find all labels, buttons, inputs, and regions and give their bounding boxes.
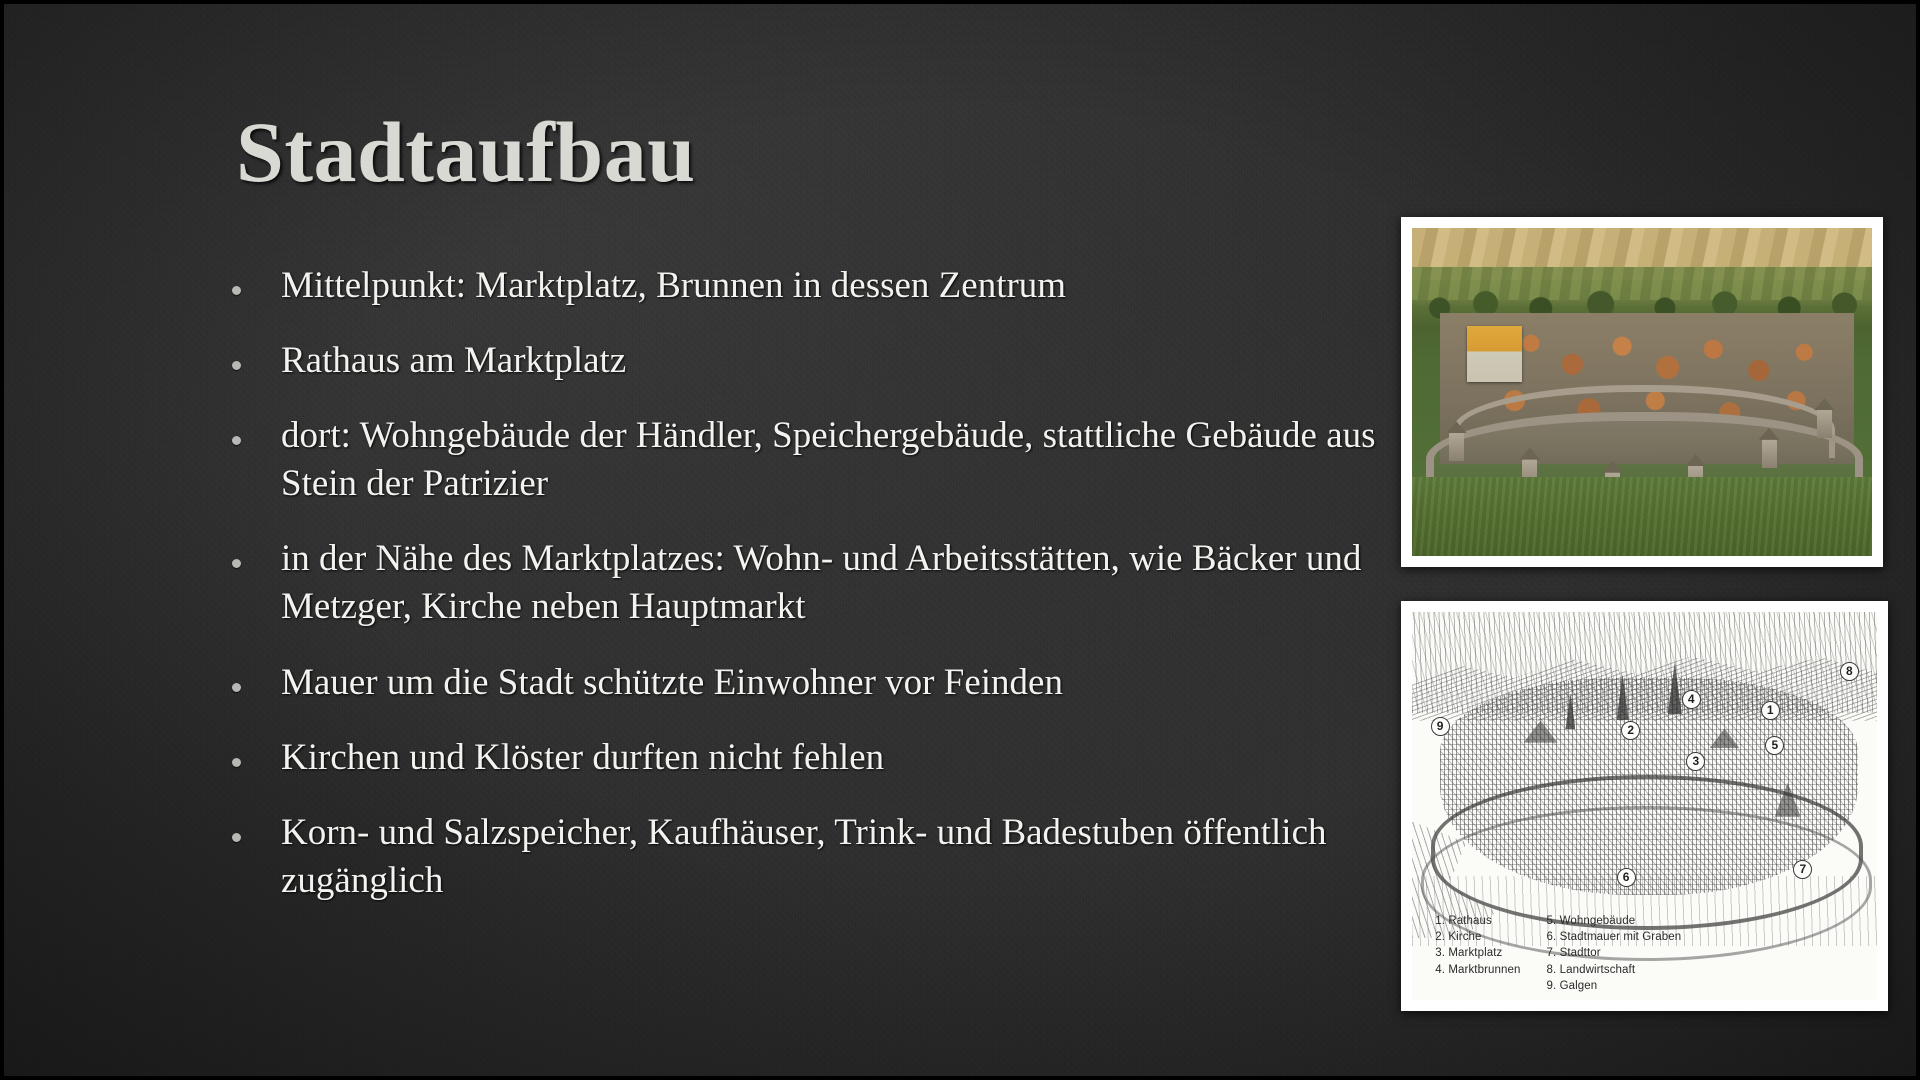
page-title: Stadtaufbau	[236, 109, 696, 195]
bullet-list: Mittelpunkt: Marktplatz, Brunnen in dess…	[232, 262, 1392, 932]
bullet-text: in der Nähe des Marktplatzes: Wohn- und …	[281, 535, 1392, 631]
list-item: Rathaus am Marktplatz	[232, 337, 1392, 385]
legend-item: 5. Wohngebäude	[1547, 913, 1682, 929]
map-marker-3: 3	[1686, 752, 1705, 771]
map-marker-9: 9	[1431, 717, 1450, 736]
legend-column-left: 1. Rathaus 2. Kirche 3. Marktplatz 4. Ma…	[1435, 913, 1520, 995]
bullet-dot-icon	[232, 559, 241, 568]
wall-tower	[1449, 431, 1464, 461]
map-marker-2: 2	[1621, 721, 1640, 740]
legend-item: 9. Galgen	[1547, 978, 1682, 994]
bullet-text: Mittelpunkt: Marktplatz, Brunnen in dess…	[281, 262, 1392, 310]
bullet-dot-icon	[232, 436, 241, 445]
bullet-text: Mauer um die Stadt schützte Einwohner vo…	[281, 659, 1392, 707]
list-item: Mittelpunkt: Marktplatz, Brunnen in dess…	[232, 262, 1392, 310]
bullet-dot-icon	[232, 361, 241, 370]
bullet-text: dort: Wohngebäude der Händler, Speicherg…	[281, 412, 1392, 508]
woodcut-legend: 1. Rathaus 2. Kirche 3. Marktplatz 4. Ma…	[1435, 913, 1863, 995]
legend-item: 4. Marktbrunnen	[1435, 962, 1520, 978]
legend-column-right: 5. Wohngebäude 6. Stadtmauer mit Graben …	[1547, 913, 1682, 995]
aerial-photo-fortified-town	[1401, 217, 1883, 567]
aerial-photo-inner	[1412, 228, 1872, 556]
map-marker-1: 1	[1761, 701, 1780, 720]
legend-item: 6. Stadtmauer mit Graben	[1547, 929, 1682, 945]
presentation-slide: Stadtaufbau Mittelpunkt: Marktplatz, Bru…	[0, 0, 1920, 1080]
list-item: Kirchen und Klöster durften nicht fehlen	[232, 734, 1392, 782]
map-marker-4: 4	[1682, 690, 1701, 709]
list-item: in der Nähe des Marktplatzes: Wohn- und …	[232, 535, 1392, 631]
legend-item: 3. Marktplatz	[1435, 945, 1520, 961]
bullet-text: Rathaus am Marktplatz	[281, 337, 1392, 385]
aerial-photo-graphic	[1412, 228, 1872, 556]
bullet-dot-icon	[232, 683, 241, 692]
legend-item: 8. Landwirtschaft	[1547, 962, 1682, 978]
list-item: dort: Wohngebäude der Händler, Speicherg…	[232, 412, 1392, 508]
legend-item: 2. Kirche	[1435, 929, 1520, 945]
bullet-text: Korn- und Salzspeicher, Kaufhäuser, Trin…	[281, 809, 1392, 905]
woodcut-graphic: 1 2 3 4 5 6 7 8 9 1. Rathaus 2. Kirche 3…	[1412, 612, 1877, 1000]
bullet-text: Kirchen und Klöster durften nicht fehlen	[281, 734, 1392, 782]
bullet-dot-icon	[232, 833, 241, 842]
wall-tower	[1817, 408, 1832, 438]
list-item: Mauer um die Stadt schützte Einwohner vo…	[232, 659, 1392, 707]
map-marker-6: 6	[1617, 868, 1636, 887]
bullet-dot-icon	[232, 758, 241, 767]
cathedral-building	[1467, 326, 1522, 382]
bullet-dot-icon	[232, 286, 241, 295]
list-item: Korn- und Salzspeicher, Kaufhäuser, Trin…	[232, 809, 1392, 905]
legend-item: 1. Rathaus	[1435, 913, 1520, 929]
wall-tower	[1762, 438, 1777, 468]
legend-item: 7. Stadttor	[1547, 945, 1682, 961]
woodcut-city-plan: 1 2 3 4 5 6 7 8 9 1. Rathaus 2. Kirche 3…	[1401, 601, 1888, 1011]
woodcut-inner: 1 2 3 4 5 6 7 8 9 1. Rathaus 2. Kirche 3…	[1412, 612, 1877, 1000]
meadow-foreground	[1412, 477, 1872, 556]
